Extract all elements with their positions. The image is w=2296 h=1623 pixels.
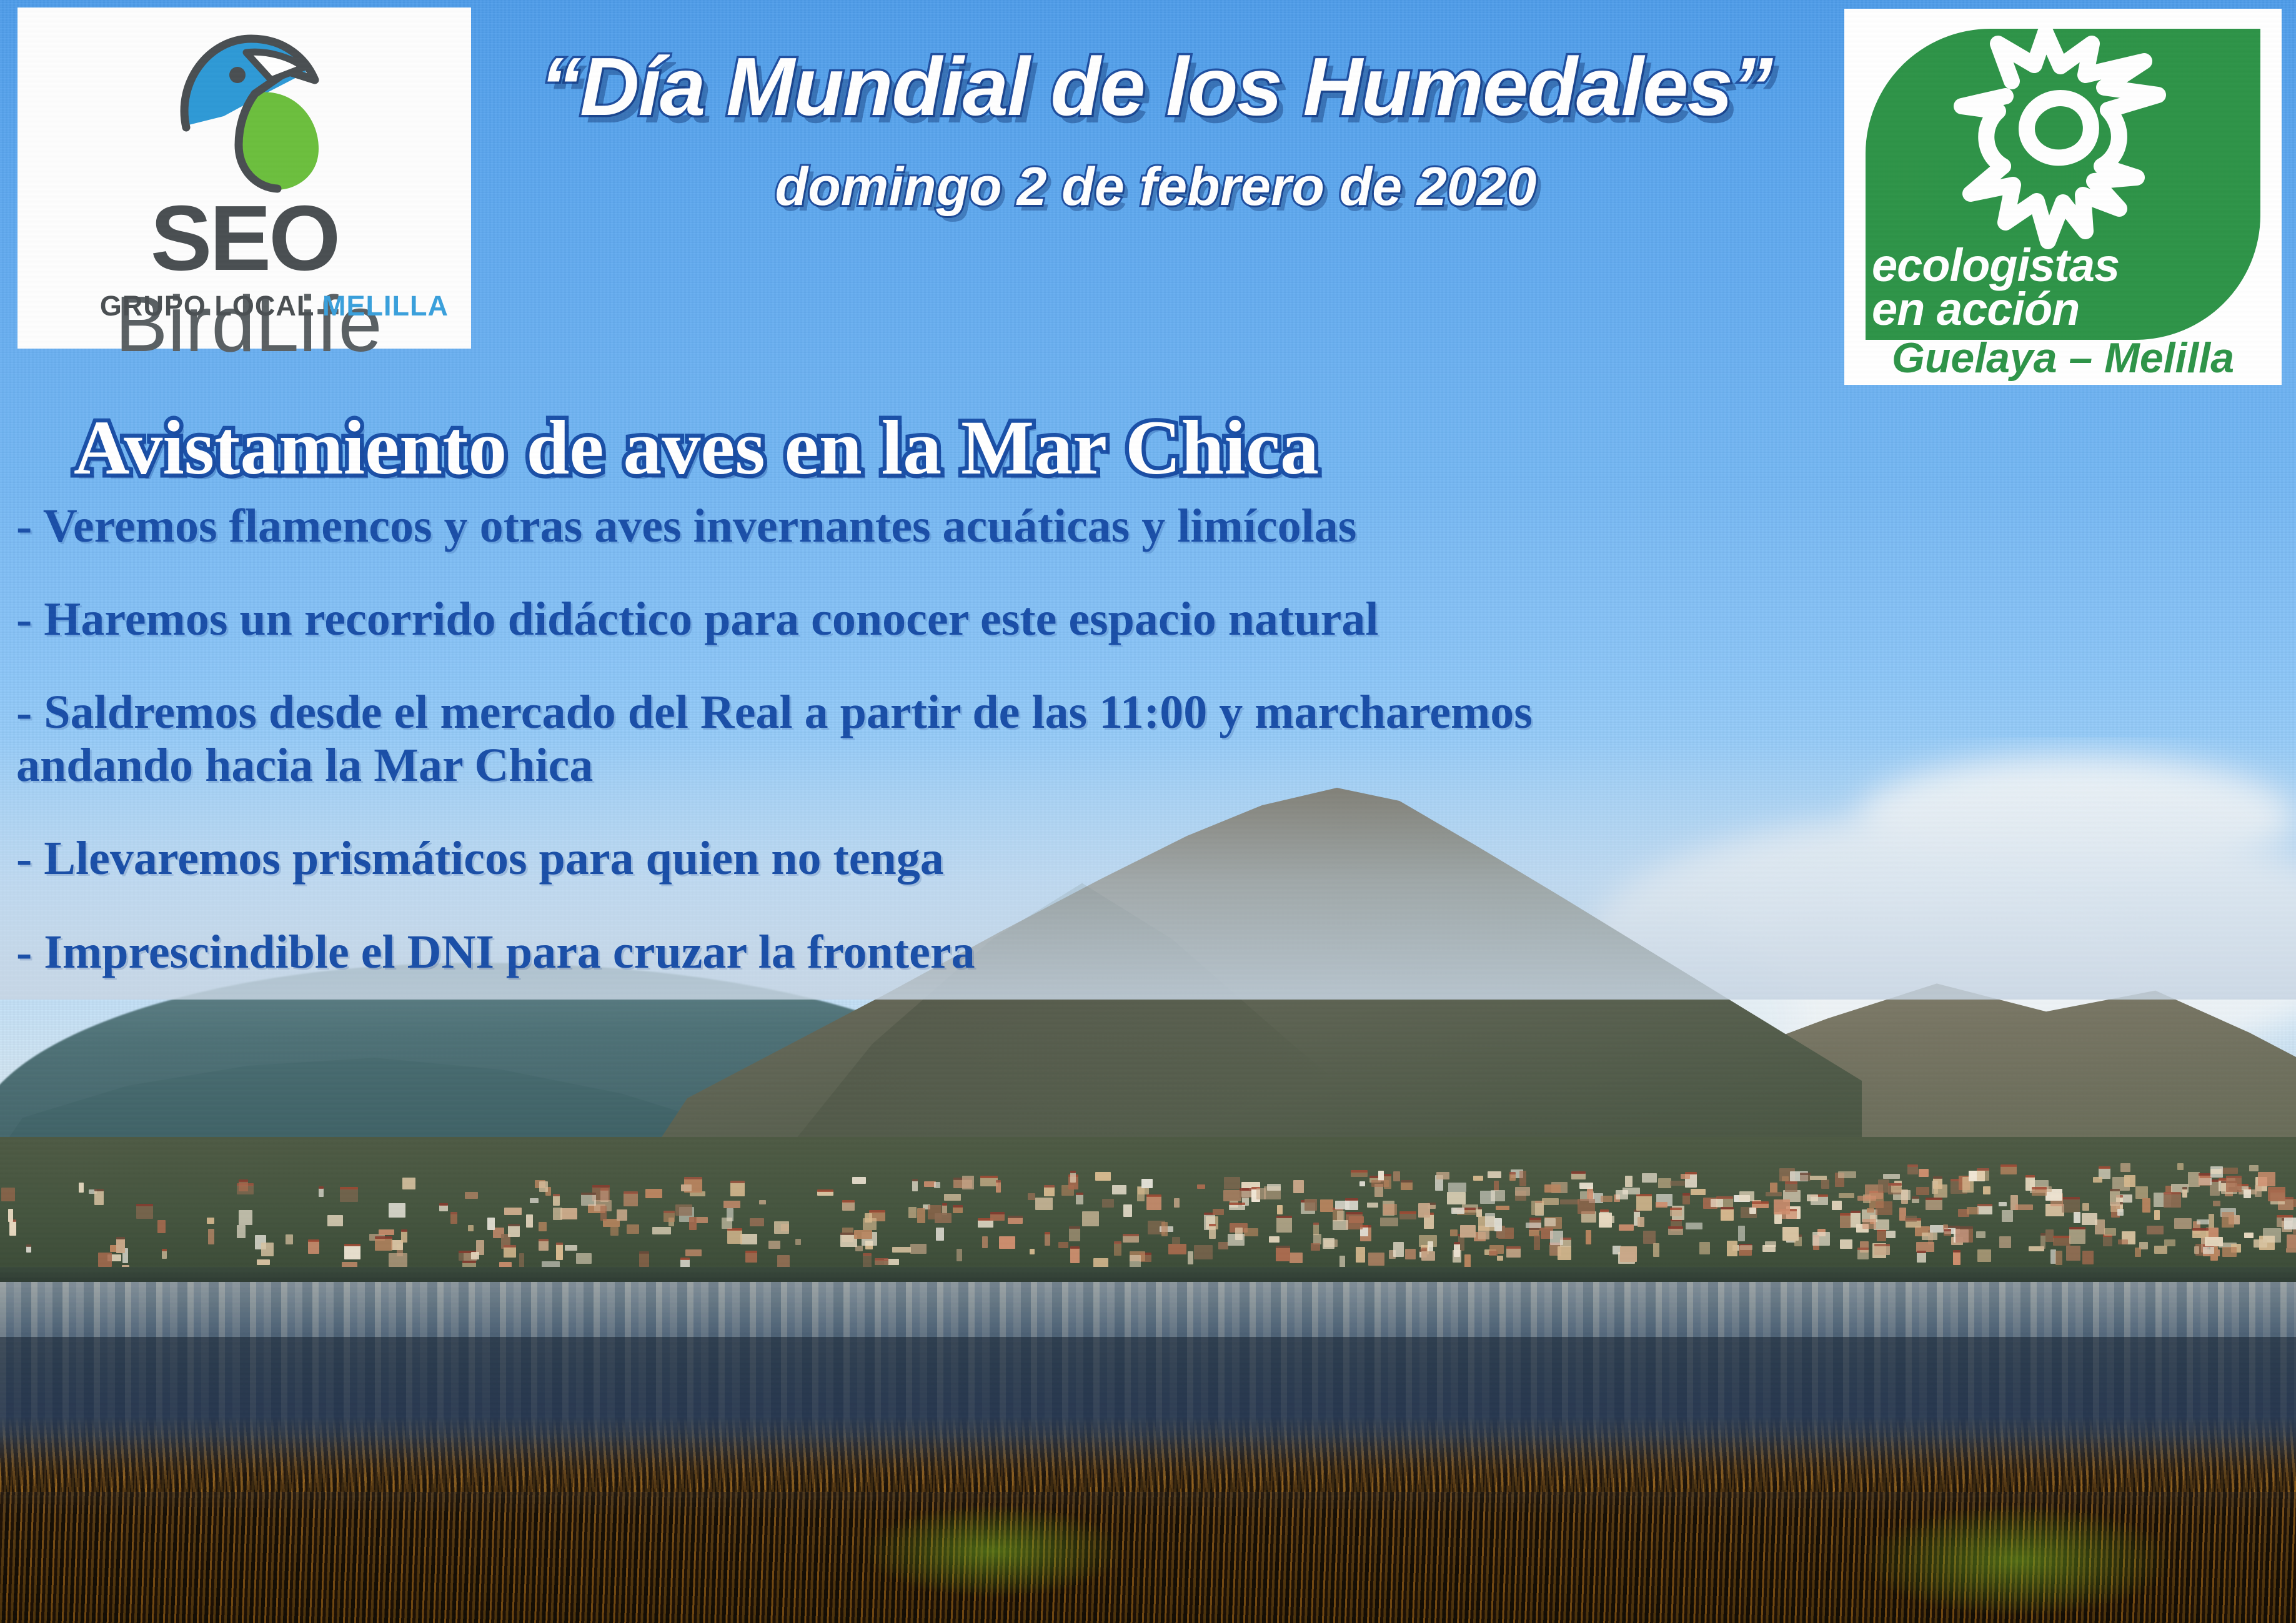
seo-birdlife-wordmark: SEOBirdLife (17, 192, 471, 364)
poster-date: domingo 2 de febrero de 2020 (481, 156, 1831, 218)
kingfisher-bird-icon (142, 20, 349, 195)
main-heading: Avistamiento de aves en la Mar Chica (0, 409, 2296, 487)
grupo-local-label: GRUPO LOCAL (100, 290, 322, 322)
bullet-item: - Saldremos desde el mercado del Real a … (16, 686, 1828, 792)
activity-details-list: - Veremos flamencos y otras aves inverna… (16, 500, 1828, 1019)
poster-canvas: SEOBirdLife GRUPO LOCAL MELILLA ecologis… (0, 0, 2296, 1623)
eco-name: ecologistas en acción (1872, 244, 2222, 332)
seo-birdlife-logo: SEOBirdLife GRUPO LOCAL MELILLA (17, 7, 471, 349)
bullet-item: - Veremos flamencos y otras aves inverna… (16, 500, 1828, 553)
seo-acronym: SEO (151, 192, 339, 285)
eco-local-group: Guelaya – Melilla (1844, 334, 2282, 382)
hillside-town (0, 1137, 2296, 1274)
bullet-item: - Imprescindible el DNI para cruzar la f… (16, 926, 1828, 979)
poster-title: “Día Mundial de los Humedales” (481, 44, 1831, 129)
seo-local-group: GRUPO LOCAL MELILLA (100, 290, 449, 322)
vegetation-green-patch (1862, 1504, 2174, 1617)
melilla-label: MELILLA (322, 290, 449, 322)
bullet-item: - Haremos un recorrido didáctico para co… (16, 593, 1828, 646)
bullet-item: - Llevaremos prismáticos para quien no t… (16, 832, 1828, 885)
vegetation-green-patch (862, 1504, 1125, 1598)
eco-name-line2: en acción (1872, 287, 2222, 331)
sun-figure-icon (1938, 21, 2175, 252)
eco-name-line1: ecologistas (1872, 244, 2222, 287)
shoreline (0, 1267, 2296, 1283)
ecologistas-en-accion-logo: ecologistas en acción Guelaya – Melilla (1844, 9, 2282, 385)
